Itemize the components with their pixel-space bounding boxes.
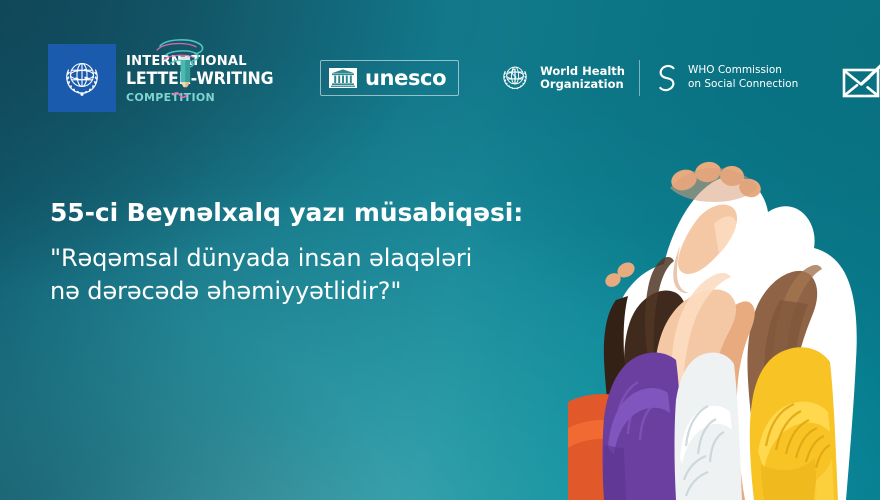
- un-globe-laurel-icon: [55, 51, 109, 105]
- social-connection-mark-icon: [654, 62, 680, 94]
- ilwc-line-competition: COMPETITION: [126, 92, 215, 103]
- four-joined-hands-illustration: [568, 128, 880, 500]
- ilwc-line-international: INTERNATIONAL: [126, 55, 247, 69]
- logo-azerpoct: azərpoçt HƏR YERDƏ SİZİNLƏ: [842, 54, 880, 102]
- who-line-2: Organization: [540, 78, 625, 91]
- logo-divider: [639, 60, 640, 96]
- who-wordmark: World Health Organization: [540, 65, 625, 92]
- wcsc-line-2: on Social Connection: [688, 78, 798, 92]
- logo-who-group: World Health Organization WHO Commission…: [497, 56, 798, 100]
- unesco-wordmark: unesco: [365, 68, 446, 89]
- theme-line-1: "Rəqəmsal dünyada insan əlaqələri: [50, 242, 610, 275]
- logo-unesco: unesco: [320, 60, 459, 96]
- competition-theme: "Rəqəmsal dünyada insan əlaqələri nə dər…: [50, 242, 610, 308]
- un-emblem-badge: [48, 44, 116, 112]
- wcsc-line-1: WHO Commission: [688, 64, 798, 78]
- who-line-1: World Health: [540, 65, 625, 78]
- unesco-temple-icon: [329, 68, 357, 88]
- logo-strip: INTERNATIONAL LETTER-WRITING COMPETITION: [48, 40, 860, 116]
- who-commission-wordmark: WHO Commission on Social Connection: [688, 64, 798, 91]
- logo-letter-writing-competition: INTERNATIONAL LETTER-WRITING COMPETITION: [48, 42, 276, 114]
- letter-writing-competition-wordmark: INTERNATIONAL LETTER-WRITING COMPETITION: [126, 44, 276, 112]
- campaign-banner: INTERNATIONAL LETTER-WRITING COMPETITION: [0, 0, 880, 500]
- ilwc-line-letter-writing: LETTER-WRITING: [126, 71, 273, 88]
- who-emblem-icon: [497, 60, 533, 96]
- envelope-check-icon: [842, 60, 880, 102]
- page-title: 55-ci Beynəlxalq yazı müsabiqəsi:: [50, 198, 610, 228]
- theme-line-2: nə dərəcədə əhəmiyyətlidir?": [50, 275, 610, 308]
- headline-block: 55-ci Beynəlxalq yazı müsabiqəsi: "Rəqəm…: [50, 198, 610, 308]
